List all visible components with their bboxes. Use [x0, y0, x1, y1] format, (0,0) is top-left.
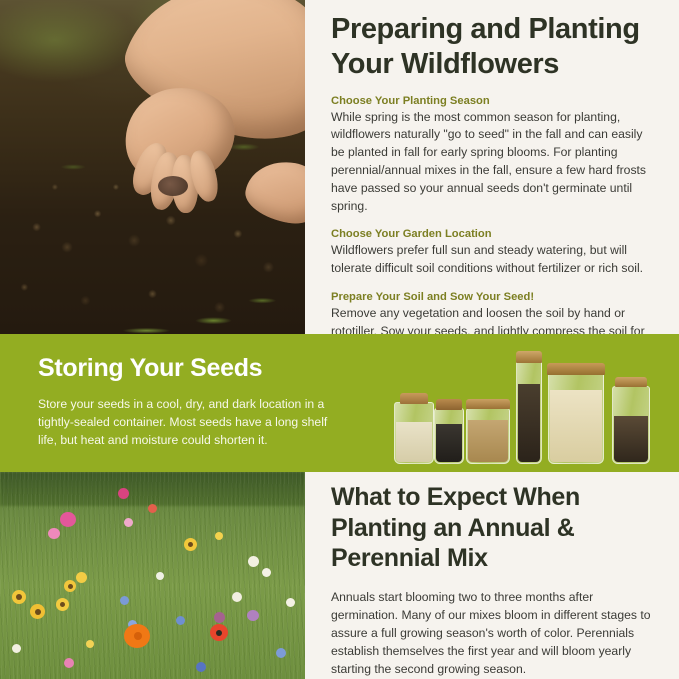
seed-jar [548, 372, 604, 464]
body-text: Store your seeds in a cool, dry, and dar… [38, 395, 338, 450]
body-text: Annuals start blooming two to three mont… [305, 574, 679, 678]
body-text: While spring is the most common season f… [331, 109, 657, 216]
flower-yellow [86, 640, 94, 648]
flower-pink [64, 658, 74, 668]
text-column-top: Preparing and Planting Your Wildflowers … [305, 0, 679, 334]
subheading: Choose Your Garden Location [331, 228, 657, 240]
flower-mauve [214, 612, 225, 623]
seed-jar [394, 402, 434, 464]
seed-jar [466, 408, 510, 464]
flower-center [134, 632, 142, 640]
section-title-storing: Storing Your Seeds [38, 354, 338, 383]
flower-pink [124, 518, 133, 527]
seed-jar [516, 360, 542, 464]
seed-jar [434, 408, 464, 464]
block-garden-location: Choose Your Garden Location Wildflowers … [331, 228, 657, 278]
body-text: Wildflowers prefer full sun and steady w… [331, 242, 657, 278]
flower-cornflower [120, 596, 129, 605]
page-title: Preparing and Planting Your Wildflowers [305, 0, 679, 82]
photo-hands-sowing-seeds [0, 0, 305, 334]
flower-white [12, 644, 21, 653]
flower-white [232, 592, 242, 602]
text-column-green: Storing Your Seeds Store your seeds in a… [38, 354, 338, 450]
seeds-in-hand [158, 176, 188, 196]
section-title-what-to-expect: What to Expect When Planting an Annual &… [305, 472, 679, 574]
section-what-to-expect: What to Expect When Planting an Annual &… [0, 472, 679, 679]
flower-center [68, 584, 73, 589]
flower-center [60, 602, 65, 607]
flower-white [286, 598, 295, 607]
subheading: Prepare Your Soil and Sow Your Seed! [331, 291, 657, 303]
flower-cornflower [196, 662, 206, 672]
flower-purple [247, 610, 259, 621]
flower-pink [48, 528, 60, 539]
flower-center [188, 542, 193, 547]
flower-red [148, 504, 157, 513]
flower-white [262, 568, 271, 577]
block-planting-season: Choose Your Planting Season While spring… [331, 95, 657, 216]
section-preparing-planting: Preparing and Planting Your Wildflowers … [0, 0, 679, 334]
subheading: Choose Your Planting Season [331, 95, 657, 107]
photo-wildflower-meadow [0, 472, 305, 679]
section-storing-seeds: Storing Your Seeds Store your seeds in a… [0, 334, 679, 472]
flower-white [248, 556, 259, 567]
flower-cornflower [176, 616, 185, 625]
flower-coreopsis [76, 572, 87, 583]
text-blocks-top: Choose Your Planting Season While spring… [305, 95, 679, 359]
flower-yellow [215, 532, 223, 540]
flower-cosmos-pink [60, 512, 76, 527]
flower-cornflower [276, 648, 286, 658]
photo-seed-jars [394, 340, 654, 470]
flower-white [156, 572, 164, 580]
seed-jar [612, 386, 650, 464]
flower-center [16, 594, 22, 600]
flower-center [216, 630, 222, 636]
infographic-page: Preparing and Planting Your Wildflowers … [0, 0, 679, 679]
text-column-bottom: What to Expect When Planting an Annual &… [305, 472, 679, 679]
flower-center [35, 609, 41, 615]
flower-pink [118, 488, 129, 499]
